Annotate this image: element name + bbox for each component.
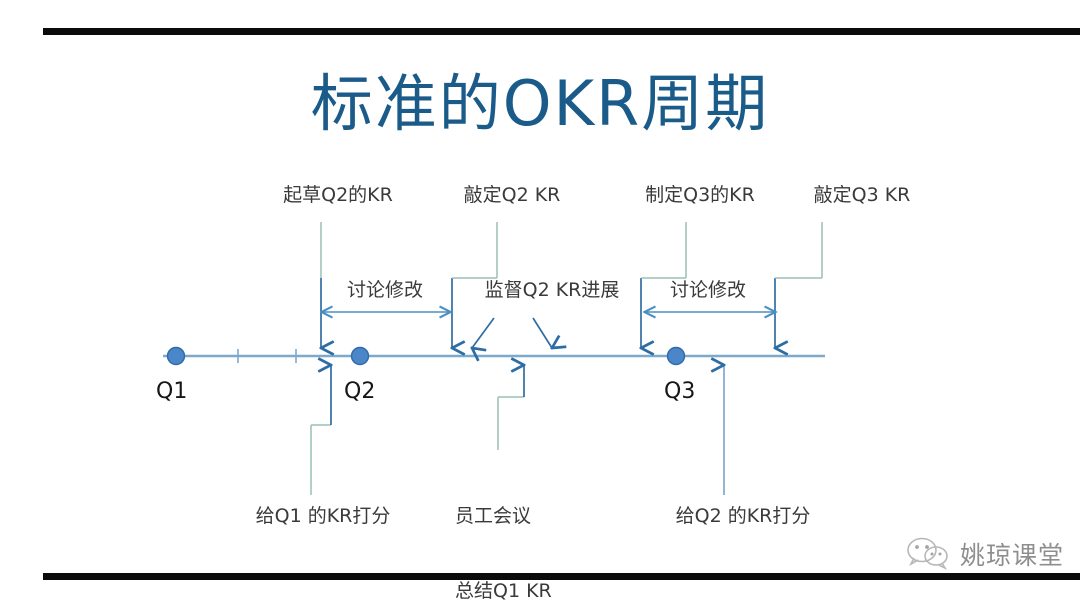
quarter-label-q2: Q2	[344, 380, 375, 404]
bottom-note-2: 员工会议 总结Q1 KR 展示Q2 KR	[455, 454, 552, 608]
quarter-marker-q1	[168, 348, 185, 365]
top-note-1: 起草Q2的KR	[283, 183, 393, 207]
span-note-right: 讨论修改	[670, 278, 746, 302]
quarter-marker-q2	[352, 348, 369, 365]
quarter-marker-q3	[668, 348, 685, 365]
bottom-note-2-line-2: 总结Q1 KR	[455, 579, 552, 604]
watermark: 姚琼课堂	[906, 536, 1064, 572]
slide-canvas: 标准的OKR周期	[0, 0, 1080, 608]
span-note-left: 讨论修改	[347, 278, 423, 302]
quarter-label-q3: Q3	[664, 380, 695, 404]
arrow-monitor-left	[472, 318, 494, 348]
bottom-note-3: 给Q2 的KR打分	[676, 504, 811, 528]
bottom-note-1: 给Q1 的KR打分	[256, 504, 391, 528]
arrow-monitor-right	[533, 318, 552, 348]
top-note-2: 敲定Q2 KR	[464, 183, 561, 207]
watermark-text: 姚琼课堂	[960, 536, 1064, 572]
quarter-label-q1: Q1	[156, 380, 187, 404]
span-note-center: 监督Q2 KR进展	[485, 278, 620, 302]
top-note-3: 制定Q3的KR	[645, 183, 755, 207]
top-note-4: 敲定Q3 KR	[814, 183, 911, 207]
bottom-note-2-line-1: 员工会议	[455, 504, 552, 529]
wechat-icon	[906, 537, 952, 571]
